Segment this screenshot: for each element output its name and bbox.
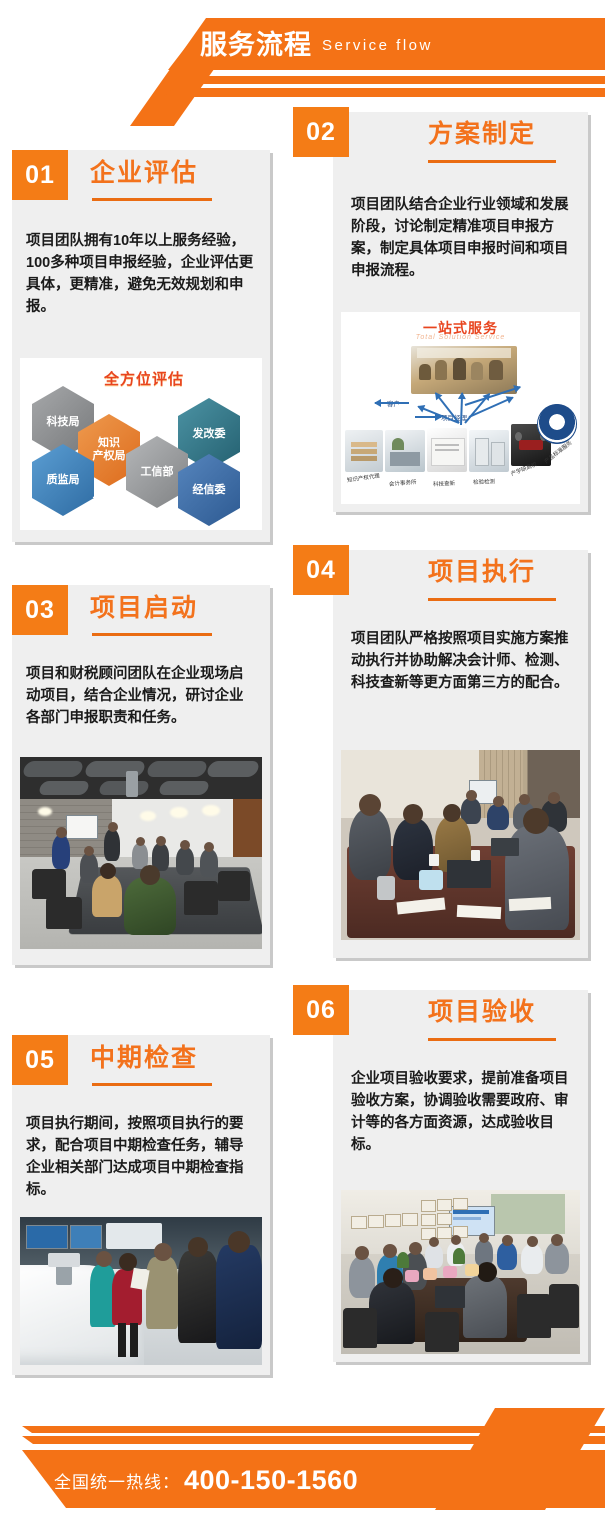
oss-tile-search <box>427 428 467 472</box>
step-card-04[interactable]: 04 项目执行 项目团队严格按照项目实施方案推动执行并协助解决会计师、检测、科技… <box>333 550 588 958</box>
poster-canvas: 服务流程 Service flow 01 企业评估 项目团队拥有10年以上服务经… <box>0 0 605 1538</box>
oss-caption-1: 会计事务所 <box>389 478 417 488</box>
title-underline-04 <box>428 598 556 601</box>
step-card-05[interactable]: 05 中期检查 项目执行期间，按照项目执行的要求，配合项目中期检查任务，辅导企业… <box>12 1035 270 1375</box>
step-text-06: 企业项目验收要求，提前准备项目验收方案，协调验收需要政府、审计等的各方面资源，达… <box>351 1068 573 1156</box>
figure-photo-lobby-visit <box>20 1217 262 1365</box>
figure-photo-conference-room <box>20 757 262 949</box>
header-title-group: 服务流程 Service flow <box>200 22 600 68</box>
oss-arrow-to-customer <box>375 402 409 404</box>
page-header: 服务流程 Service flow <box>0 0 605 112</box>
oss-caption-0: 知识产权代理 <box>346 471 380 484</box>
figure-photo-working-meeting <box>341 750 580 940</box>
oss-certification-seal <box>537 404 577 444</box>
step-card-03[interactable]: 03 项目启动 项目和财税顾问团队在企业现场启动项目，结合企业情况，研讨企业各部… <box>12 585 270 965</box>
hexagon-chart-title: 全方位评估 <box>104 368 184 389</box>
oss-top-photo <box>411 346 517 394</box>
step-title-04: 项目执行 <box>428 560 536 585</box>
figure-one-stop-service: 一站式服务 Total Solution Service 客户 项目经理 <box>341 312 580 504</box>
step-title-06: 项目验收 <box>428 1000 536 1025</box>
oss-caption-3: 检验检测 <box>473 477 495 486</box>
step-title-01: 企业评估 <box>90 161 198 186</box>
title-underline-05 <box>92 1083 212 1086</box>
footer-accent-line-1 <box>22 1426 605 1433</box>
footer-accent-line-2 <box>22 1436 605 1444</box>
step-text-05: 项目执行期间，按照项目执行的要求，配合项目中期检查任务，辅导企业相关部门达成项目… <box>26 1113 254 1201</box>
step-title-02: 方案制定 <box>428 122 536 147</box>
one-stop-service-subtitle: Total Solution Service <box>341 334 580 341</box>
oss-tile-accounting <box>385 430 425 472</box>
footer-hotline: 全国统一热线： 400-150-1560 <box>54 1458 358 1502</box>
title-underline-02 <box>428 160 556 163</box>
figure-hexagon-chart: 全方位评估 科技局 知识 产权局 发改委 质监局 工信部 商务局 经信委 <box>20 358 262 530</box>
step-card-02[interactable]: 02 方案制定 项目团队结合企业行业领域和发展阶段，讨论制定精准项目申报方案，制… <box>333 112 588 512</box>
page-footer: 全国统一热线： 400-150-1560 <box>0 1398 605 1538</box>
oss-caption-2: 科技查新 <box>433 479 455 488</box>
step-title-03: 项目启动 <box>90 596 198 621</box>
step-number-02: 02 <box>293 107 349 157</box>
step-card-01[interactable]: 01 企业评估 项目团队拥有10年以上服务经验，100多种项目申报经验，企业评估… <box>12 150 270 542</box>
title-underline-03 <box>92 633 212 636</box>
figure-photo-acceptance-meeting <box>341 1190 580 1354</box>
hotline-number[interactable]: 400-150-1560 <box>184 1465 358 1496</box>
oss-tile-ip <box>345 430 383 472</box>
step-number-01: 01 <box>12 150 68 200</box>
step-number-04: 04 <box>293 545 349 595</box>
title-underline-01 <box>92 198 212 201</box>
step-number-03: 03 <box>12 585 68 635</box>
page-title: 服务流程 <box>200 32 312 59</box>
header-accent-line-2 <box>163 88 605 97</box>
step-title-05: 中期检查 <box>90 1046 198 1071</box>
step-text-03: 项目和财税顾问团队在企业现场启动项目，结合企业情况，研讨企业各部门申报职责和任务… <box>26 663 254 729</box>
title-underline-06 <box>428 1038 556 1041</box>
hotline-label: 全国统一热线： <box>54 1468 180 1493</box>
step-text-02: 项目团队结合企业行业领域和发展阶段，讨论制定精准项目申报方案，制定具体项目申报时… <box>351 194 573 282</box>
step-number-06: 06 <box>293 985 349 1035</box>
header-accent-line-1 <box>170 76 605 84</box>
oss-tile-testing <box>469 430 509 472</box>
step-text-04: 项目团队严格按照项目实施方案推动执行并协助解决会计师、检测、科技查新等更方面第三… <box>351 628 573 694</box>
step-number-05: 05 <box>12 1035 68 1085</box>
step-card-06[interactable]: 06 项目验收 企业项目验收要求，提前准备项目验收方案，协调验收需要政府、审计等… <box>333 990 588 1362</box>
oss-arrow-to-manager <box>415 416 441 418</box>
page-subtitle: Service flow <box>322 38 433 53</box>
step-text-01: 项目团队拥有10年以上服务经验，100多种项目申报经验，企业评估更具体，更精准，… <box>26 230 254 318</box>
